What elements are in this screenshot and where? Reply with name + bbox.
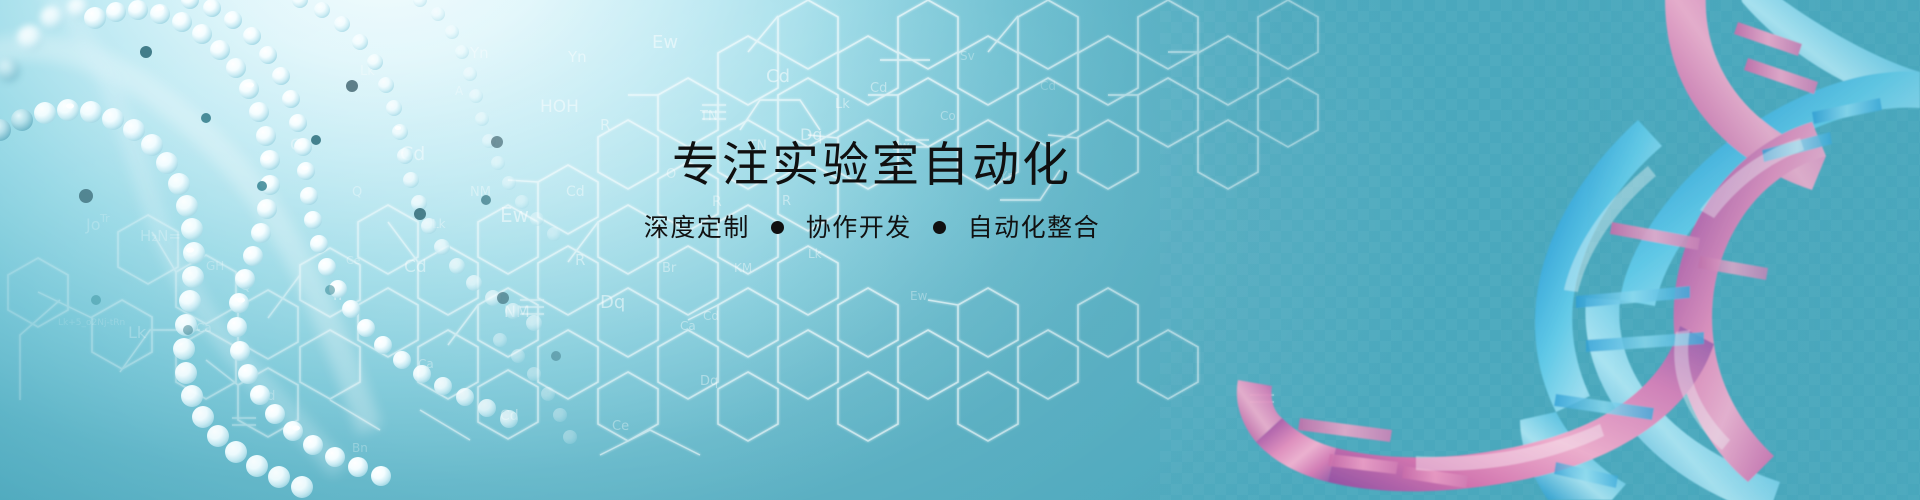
bullet-separator-icon — [771, 221, 784, 234]
subtitle-item-3: 自动化整合 — [968, 215, 1101, 240]
hero-banner: Tr Jo Tr Lk Lk+5_o2Nj-tRn Ca H₂N= GH Q C… — [0, 0, 1920, 500]
bullet-separator-icon — [933, 221, 946, 234]
banner-headline: 专注实验室自动化 — [612, 142, 1132, 189]
subtitle-item-2: 协作开发 — [806, 215, 912, 240]
banner-subtitle: 深度定制 协作开发 自动化整合 — [612, 215, 1132, 240]
banner-text-block: 专注实验室自动化 深度定制 协作开发 自动化整合 — [612, 142, 1132, 240]
right-dna-double-helix — [0, 0, 1920, 500]
subtitle-item-1: 深度定制 — [644, 215, 750, 240]
